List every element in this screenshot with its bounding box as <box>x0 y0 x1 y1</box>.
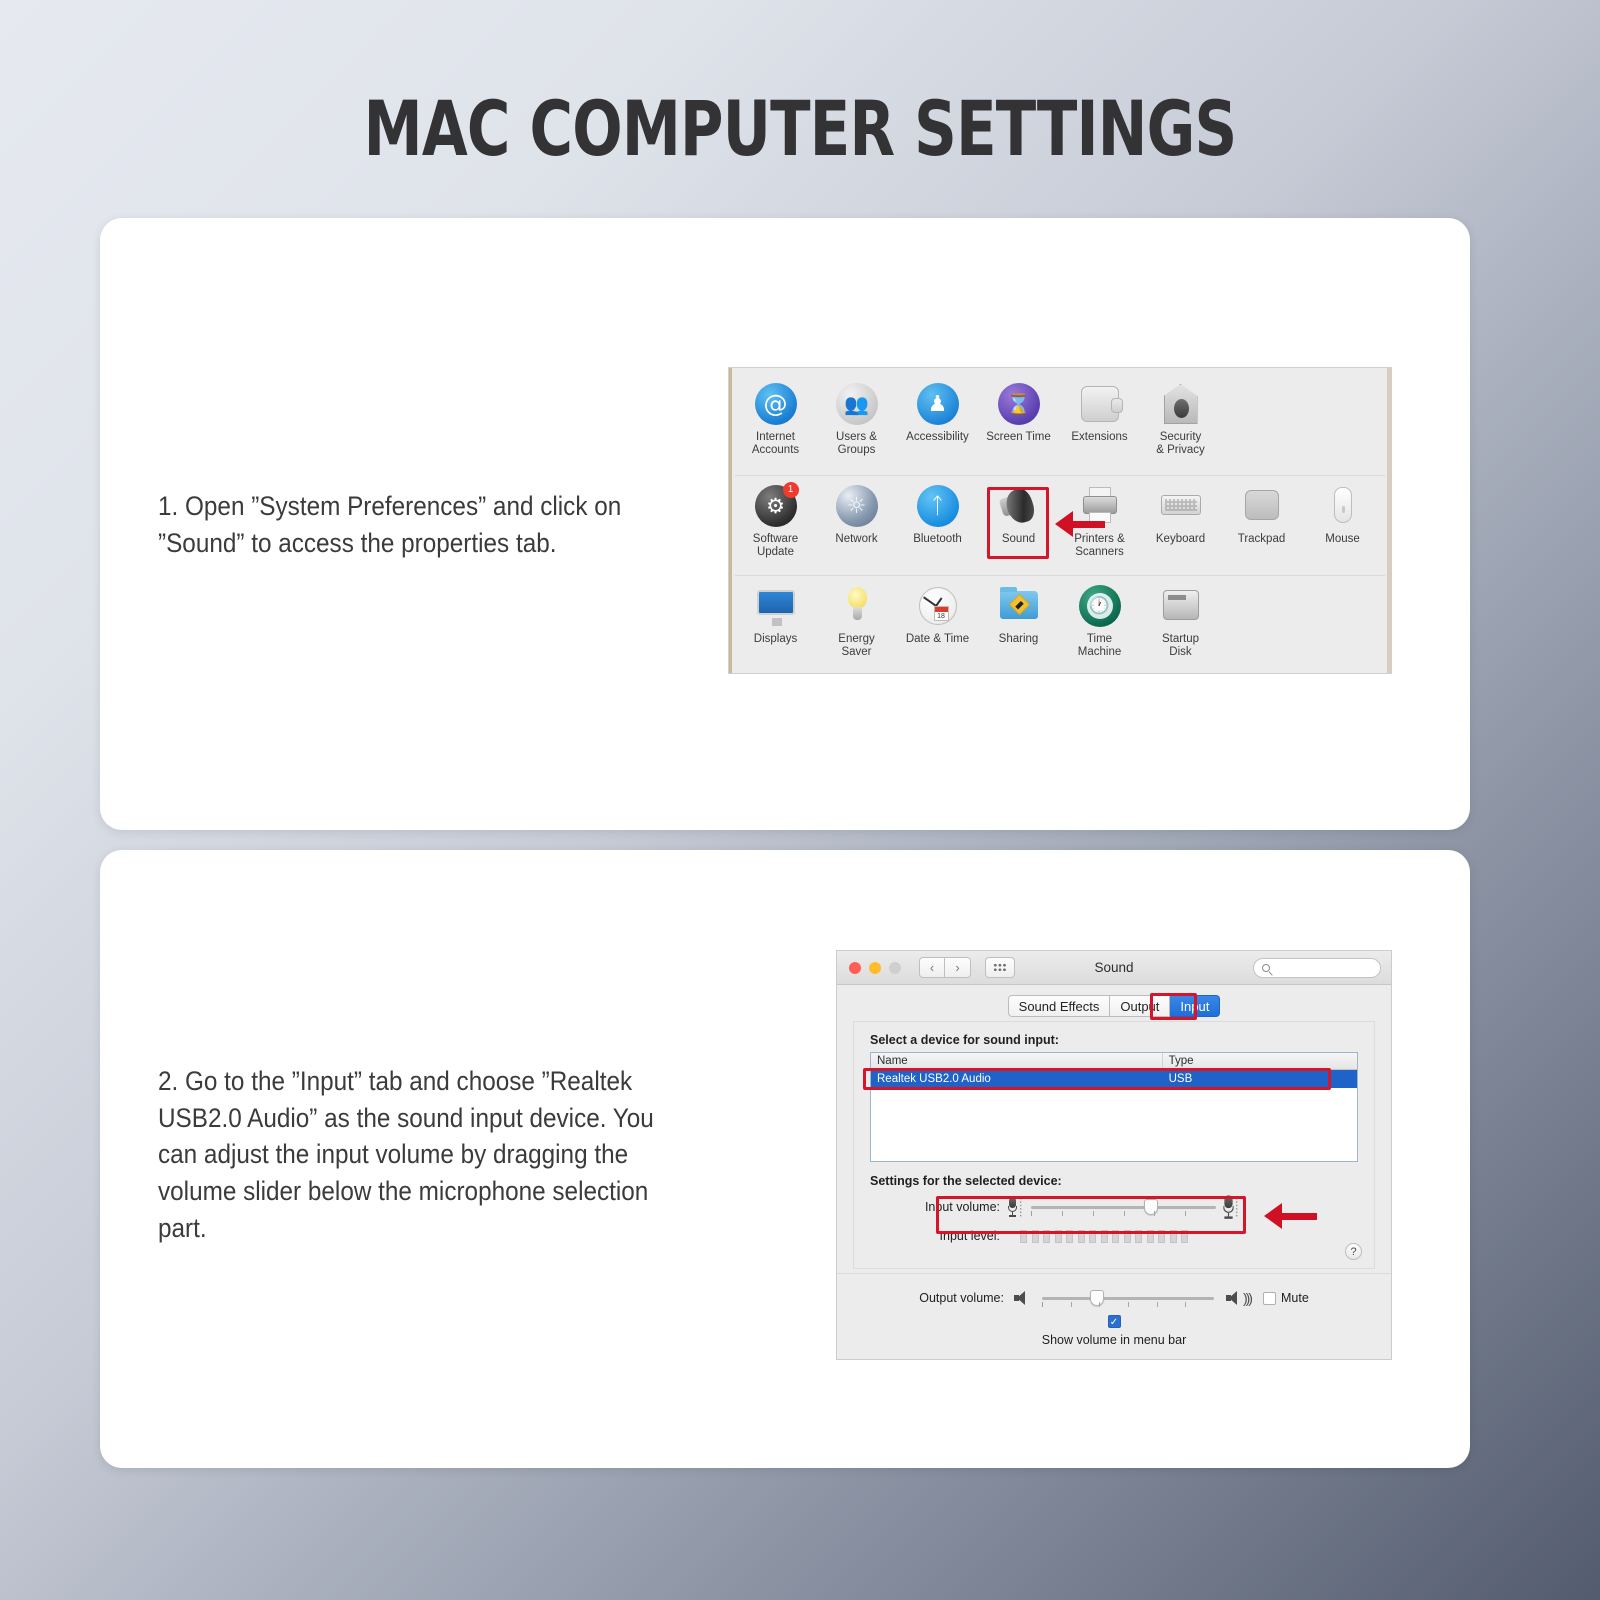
pref-item-sharing[interactable]: Sharing <box>978 578 1059 672</box>
page-title: MAC COMPUTER SETTINGS <box>176 84 1424 173</box>
update-badge: 1 <box>783 482 799 498</box>
slider-ticks <box>1042 1302 1214 1307</box>
help-button[interactable]: ? <box>1345 1243 1362 1260</box>
device-name: Realtek USB2.0 Audio <box>871 1073 1163 1085</box>
input-volume-slider[interactable] <box>1031 1197 1216 1217</box>
bluetooth-icon: ᛏ <box>916 484 960 528</box>
network-icon: ☼ <box>835 484 879 528</box>
pref-label: Displays <box>754 633 797 646</box>
pref-item-time-machine[interactable]: 🕐 Time Machine <box>1059 578 1140 672</box>
pref-label: Keyboard <box>1156 533 1205 546</box>
output-volume-label: Output volume: <box>919 1291 1004 1305</box>
pref-item-mouse[interactable]: Mouse <box>1302 478 1383 575</box>
sharing-icon <box>997 584 1041 628</box>
pref-label: Bluetooth <box>913 533 962 546</box>
pref-label: Mouse <box>1325 533 1360 546</box>
input-settings-pane: Select a device for sound input: Name Ty… <box>853 1021 1375 1269</box>
pref-item-software-update[interactable]: ⚙ 1 Software Update <box>735 478 816 575</box>
step-2-text: 2. Go to the ”Input” tab and choose ”Rea… <box>158 1063 671 1247</box>
extensions-icon <box>1078 382 1122 426</box>
table-header: Name Type <box>871 1053 1357 1070</box>
date-time-icon: 18 <box>916 584 960 628</box>
pref-item-extensions[interactable]: Extensions <box>1059 376 1140 475</box>
speaker-loud-icon <box>1226 1291 1242 1305</box>
input-level-meter <box>1020 1230 1188 1243</box>
trackpad-icon <box>1240 484 1284 528</box>
pref-item-internet-accounts[interactable]: @ Internet Accounts <box>735 376 816 475</box>
pref-label: Software Update <box>753 533 798 559</box>
column-header-name: Name <box>871 1053 1163 1069</box>
pref-label: Energy Saver <box>838 633 874 659</box>
security-privacy-icon <box>1159 382 1203 426</box>
search-icon <box>1262 964 1270 972</box>
sound-preferences-window[interactable]: ‹ › Sound Sound Effects Output Input Sel… <box>836 950 1392 1360</box>
keyboard-icon <box>1159 484 1203 528</box>
mute-checkbox[interactable] <box>1263 1292 1276 1305</box>
microphone-low-icon <box>1008 1197 1017 1217</box>
input-level-row: Input level: <box>854 1229 1374 1243</box>
tab-strip: Sound Effects Output Input <box>837 995 1391 1017</box>
pref-label: Internet Accounts <box>752 431 799 457</box>
device-type: USB <box>1163 1073 1357 1085</box>
pref-row-3: Displays Energy Saver 18 Date & Time Sha… <box>735 578 1385 672</box>
slider-track <box>1042 1297 1214 1300</box>
mute-label: Mute <box>1281 1291 1309 1305</box>
panel-left-edge <box>729 368 732 673</box>
slider-ticks <box>1031 1211 1216 1216</box>
sound-pointer-arrow <box>1055 511 1105 537</box>
users-groups-icon: 👥 <box>835 382 879 426</box>
pref-row-1: @ Internet Accounts 👥 Users & Groups ♟ A… <box>735 376 1385 476</box>
output-volume-slider[interactable] <box>1042 1288 1214 1308</box>
device-table[interactable]: Name Type Realtek USB2.0 Audio USB <box>870 1052 1358 1162</box>
pref-item-keyboard[interactable]: Keyboard <box>1140 478 1221 575</box>
pref-item-users-groups[interactable]: 👥 Users & Groups <box>816 376 897 475</box>
pref-item-date-time[interactable]: 18 Date & Time <box>897 578 978 672</box>
pref-item-trackpad[interactable]: Trackpad <box>1221 478 1302 575</box>
pref-label: Accessibility <box>906 431 969 444</box>
pref-item-security-privacy[interactable]: Security & Privacy <box>1140 376 1221 475</box>
internet-accounts-icon: @ <box>754 382 798 426</box>
panel-right-edge <box>1387 368 1391 673</box>
accessibility-icon: ♟ <box>916 382 960 426</box>
tab-output[interactable]: Output <box>1110 995 1170 1017</box>
pref-item-displays[interactable]: Displays <box>735 578 816 672</box>
slider-track <box>1031 1206 1216 1209</box>
software-update-icon: ⚙ 1 <box>754 484 798 528</box>
pref-item-screen-time[interactable]: ⌛ Screen Time <box>978 376 1059 475</box>
pref-item-sound[interactable]: Sound <box>978 478 1059 575</box>
speaker-mute-icon <box>1014 1291 1030 1305</box>
mouse-icon <box>1321 484 1365 528</box>
show-volume-label: Show volume in menu bar <box>837 1333 1391 1347</box>
pref-label: Date & Time <box>906 633 969 646</box>
microphone-high-icon <box>1223 1195 1234 1219</box>
pref-label: Sharing <box>999 633 1039 646</box>
pref-label: Extensions <box>1071 431 1127 444</box>
pref-label: Sound <box>1002 533 1035 546</box>
mic-high-level-dots <box>1235 1197 1239 1217</box>
displays-icon <box>754 584 798 628</box>
pref-label: Screen Time <box>986 431 1051 444</box>
tab-sound-effects[interactable]: Sound Effects <box>1008 995 1111 1017</box>
output-volume-row: Output volume: ))) Mute <box>837 1274 1391 1308</box>
show-volume-row: ✓ <box>837 1312 1391 1330</box>
column-header-type: Type <box>1163 1053 1357 1069</box>
output-volume-bar: Output volume: ))) Mute ✓ Show volume in… <box>837 1273 1391 1359</box>
screen-time-icon: ⌛ <box>997 382 1041 426</box>
calendar-day: 18 <box>935 613 948 620</box>
pref-item-startup-disk[interactable]: Startup Disk <box>1140 578 1221 672</box>
step-1-text: 1. Open ”System Preferences” and click o… <box>158 488 662 561</box>
energy-saver-icon <box>835 584 879 628</box>
pref-label: Startup Disk <box>1162 633 1199 659</box>
pref-label: Network <box>835 533 877 546</box>
startup-disk-icon <box>1159 584 1203 628</box>
pref-label: Security & Privacy <box>1156 431 1205 457</box>
pref-item-energy-saver[interactable]: Energy Saver <box>816 578 897 672</box>
pref-label: Users & Groups <box>836 431 877 457</box>
mic-low-level-dots <box>1019 1197 1023 1217</box>
pref-label: Trackpad <box>1238 533 1286 546</box>
input-volume-label: Input volume: <box>914 1200 1000 1214</box>
search-input[interactable] <box>1253 958 1381 978</box>
sound-icon <box>997 484 1041 528</box>
show-volume-checkbox[interactable]: ✓ <box>1108 1315 1121 1328</box>
input-volume-pointer-arrow <box>1264 1203 1317 1229</box>
tab-input[interactable]: Input <box>1170 995 1220 1017</box>
settings-label: Settings for the selected device: <box>870 1174 1374 1188</box>
table-row[interactable]: Realtek USB2.0 Audio USB <box>871 1070 1357 1088</box>
pref-item-accessibility[interactable]: ♟ Accessibility <box>897 376 978 475</box>
pref-label: Time Machine <box>1078 633 1121 659</box>
device-section-label: Select a device for sound input: <box>870 1033 1374 1047</box>
time-machine-icon: 🕐 <box>1078 584 1122 628</box>
pref-item-network[interactable]: ☼ Network <box>816 478 897 575</box>
pref-item-bluetooth[interactable]: ᛏ Bluetooth <box>897 478 978 575</box>
speaker-waves-icon: ))) <box>1243 1290 1251 1306</box>
window-titlebar: ‹ › Sound <box>837 951 1391 985</box>
input-level-label: Input level: <box>914 1229 1000 1243</box>
